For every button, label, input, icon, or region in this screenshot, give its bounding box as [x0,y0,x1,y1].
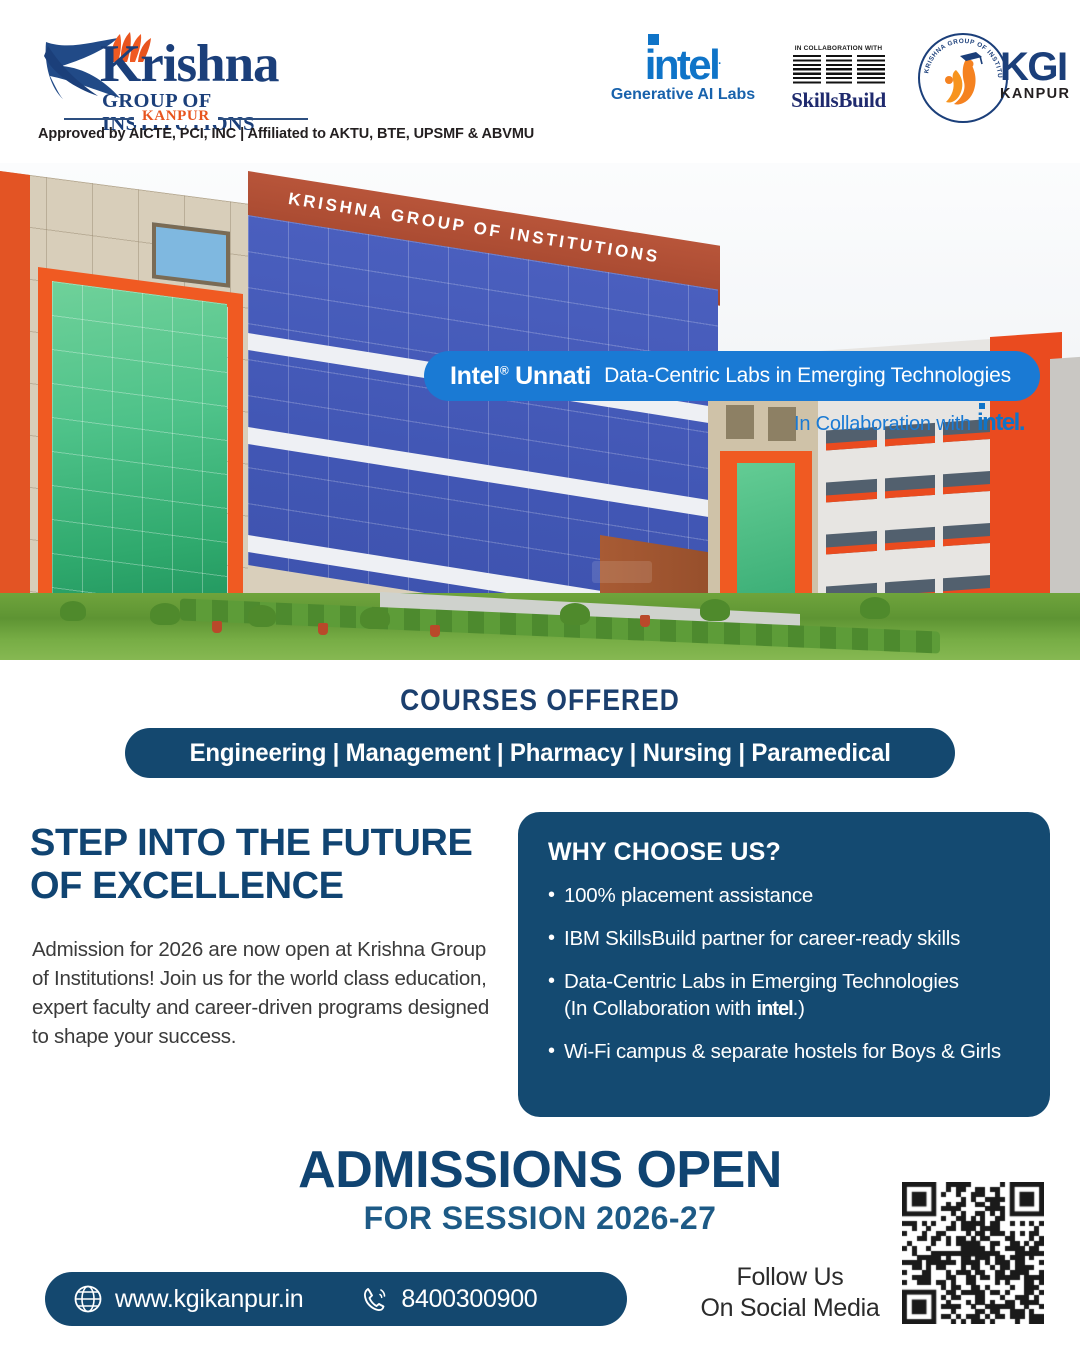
shrub [560,603,590,625]
why-choose-us-card: WHY CHOOSE US? • 100% placement assistan… [518,812,1050,1117]
shrub [860,597,890,619]
list-item-text: Wi-Fi campus & separate hostels for Boys… [564,1039,1022,1065]
list-item-text: IBM SkillsBuild partner for career-ready… [564,926,1022,952]
intel-inline-logo-icon: intel. [977,409,1024,436]
planter-pot [212,621,222,633]
phone-icon [359,1284,389,1314]
why-choose-us-title: WHY CHOOSE US? [548,838,1022,867]
intel-inline-logo-icon: intel [757,998,793,1020]
ibm-skillsbuild-logo: IN COLLABORATION WITH SkillsBuild [786,45,891,113]
intel-logo-subtitle: Generative AI Labs [608,86,758,104]
list-item-text: 100% placement assistance [564,883,1022,909]
courses-offered-bar: Engineering | Management | Pharmacy | Nu… [125,728,955,778]
shrub [360,607,390,629]
follow-us-label: Follow Us On Social Media [690,1262,890,1323]
planter-pot [318,623,328,635]
main-headline: STEP INTO THE FUTURE OF EXCELLENCE [30,822,500,909]
banner-brand-label: Intel® Unnati [450,362,591,391]
upper-window-left [152,222,230,288]
courses-offered-title: COURSES OFFERED [65,684,1015,718]
page-header: Krishna GROUP OF INSTITUTIONS KANPUR App… [0,0,1080,160]
ibm-skillsbuild-text: SkillsBuild [786,88,891,113]
list-item: • IBM SkillsBuild partner for career-rea… [548,926,1022,952]
hero-collaboration-line: In Collaboration withintel. [424,409,1024,437]
qr-code[interactable] [902,1182,1044,1324]
accreditation-text: Approved by AICTE, PCI, INC | Affiliated… [38,126,534,142]
collab-prefix: In Collaboration with [794,413,971,435]
follow-line-2: On Social Media [690,1293,890,1324]
hero-campus-photo: KRISHNA GROUP OF INSTITUTIONS Intel® Unn… [0,163,1080,660]
bullet-icon: • [548,969,564,1022]
list-item: • 100% placement assistance [548,883,1022,909]
intel-unnati-banner: Intel® Unnati Data-Centric Labs in Emerg… [424,351,1040,401]
bullet-icon: • [548,883,564,909]
kgi-text-block: KGI KANPUR [1000,49,1070,102]
list-item-line2-suffix: .) [793,997,805,1020]
follow-line-1: Follow Us [690,1262,890,1293]
phone-link[interactable]: 8400300900 [359,1284,537,1314]
bullet-icon: • [548,926,564,952]
website-text: www.kgikanpur.in [115,1285,303,1314]
logo-city: KANPUR [134,108,218,125]
ibm-wordmark-icon [793,55,885,85]
kgi-kanpur-logo: KRISHNA GROUP OF INSTITUTIONS KGI KANPUR [918,33,1060,125]
shrub [248,605,276,627]
shrub [150,603,180,625]
banner-description: Data-Centric Labs in Emerging Technologi… [604,364,1011,388]
shrub [60,601,86,621]
kgi-graduate-flame-icon [936,50,992,108]
courses-list-text: Engineering | Management | Pharmacy | Nu… [189,739,890,768]
left-green-glass-facade [52,281,227,634]
contact-bar: www.kgikanpur.in 8400300900 [45,1272,627,1326]
kgi-wordmark: KGI [1000,49,1070,85]
list-item-text: Data-Centric Labs in Emerging Technologi… [564,969,1022,1022]
logo-wordmark: Krishna [100,38,279,91]
bullet-icon: • [548,1039,564,1065]
globe-icon [73,1284,103,1314]
planter-pot [640,615,650,627]
phone-text: 8400300900 [401,1285,537,1314]
planter-pot [430,625,440,637]
ibm-collab-prefix: IN COLLABORATION WITH [786,45,891,52]
list-item: • Data-Centric Labs in Emerging Technolo… [548,969,1022,1022]
intel-wordmark-icon: intel. [645,45,721,85]
shrub [700,599,730,621]
entrance-kgi-sign [592,561,652,583]
krishna-group-logo: Krishna GROUP OF INSTITUTIONS KANPUR [38,32,308,114]
list-item: • Wi-Fi campus & separate hostels for Bo… [548,1039,1022,1065]
why-choose-us-list: • 100% placement assistance • IBM Skills… [548,883,1022,1066]
left-tower-orange-edge [0,171,30,645]
main-body-copy: Admission for 2026 are now open at Krish… [32,935,494,1051]
intel-generative-ai-labs-logo: intel. Generative AI Labs [608,45,758,104]
website-link[interactable]: www.kgikanpur.in [73,1284,303,1314]
list-item-line1: Data-Centric Labs in Emerging Technologi… [564,970,959,993]
list-item-line2-prefix: (In Collaboration with [564,997,757,1020]
